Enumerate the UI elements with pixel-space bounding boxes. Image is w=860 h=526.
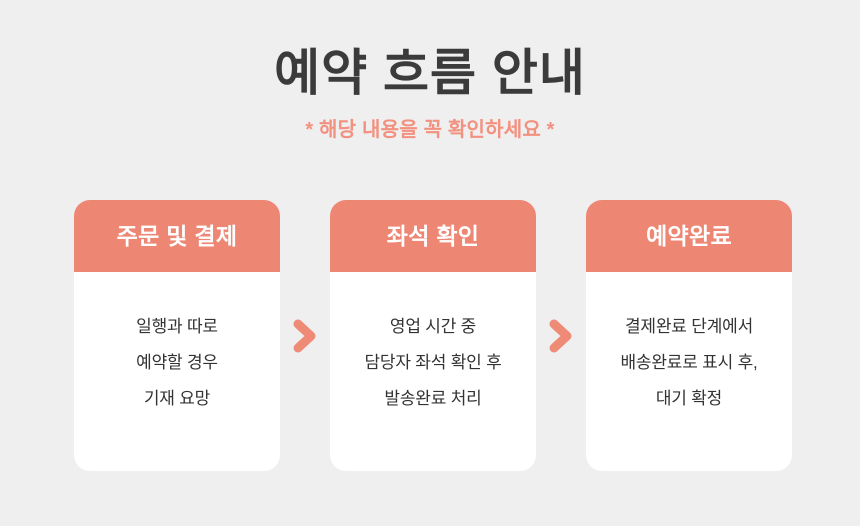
flow-step-body-line: 배송완료로 표시 후, <box>620 345 757 381</box>
flow-step-title-3: 예약완료 <box>646 222 732 250</box>
flow-step-body-line: 대기 확정 <box>656 381 722 417</box>
chevron-right-icon <box>548 319 574 353</box>
page-title: 예약 흐름 안내 <box>0 44 860 102</box>
flow-step-header-2: 좌석 확인 <box>330 200 536 272</box>
flow-step-body-line: 일행과 따로 <box>136 309 218 345</box>
flow-step-body-1: 일행과 따로 예약할 경우 기재 요망 <box>74 272 280 471</box>
infographic-page: 예약 흐름 안내 * 해당 내용을 꼭 확인하세요 * 주문 및 결제 일행과 … <box>0 0 860 526</box>
flow-arrow-1 <box>280 200 330 471</box>
flow-step-card-2: 좌석 확인 영업 시간 중 담당자 좌석 확인 후 발송완료 처리 <box>330 200 536 471</box>
flow-step-body-line: 담당자 좌석 확인 후 <box>364 345 501 381</box>
flow-step-title-1: 주문 및 결제 <box>117 222 238 250</box>
flow-diagram: 주문 및 결제 일행과 따로 예약할 경우 기재 요망 좌석 확인 영업 시간 … <box>74 200 786 471</box>
flow-step-body-line: 기재 요망 <box>144 381 210 417</box>
flow-step-card-1: 주문 및 결제 일행과 따로 예약할 경우 기재 요망 <box>74 200 280 471</box>
page-subtitle: * 해당 내용을 꼭 확인하세요 * <box>0 118 860 142</box>
flow-step-title-2: 좌석 확인 <box>387 222 480 250</box>
flow-step-body-line: 발송완료 처리 <box>384 381 481 417</box>
flow-step-card-3: 예약완료 결제완료 단계에서 배송완료로 표시 후, 대기 확정 <box>586 200 792 471</box>
chevron-right-icon <box>292 319 318 353</box>
flow-arrow-2 <box>536 200 586 471</box>
flow-step-body-line: 영업 시간 중 <box>390 309 476 345</box>
flow-step-header-3: 예약완료 <box>586 200 792 272</box>
header-block: 예약 흐름 안내 * 해당 내용을 꼭 확인하세요 * <box>0 44 860 142</box>
flow-step-body-line: 예약할 경우 <box>136 345 218 381</box>
flow-step-body-3: 결제완료 단계에서 배송완료로 표시 후, 대기 확정 <box>586 272 792 471</box>
flow-step-header-1: 주문 및 결제 <box>74 200 280 272</box>
flow-step-body-2: 영업 시간 중 담당자 좌석 확인 후 발송완료 처리 <box>330 272 536 471</box>
flow-step-body-line: 결제완료 단계에서 <box>625 309 753 345</box>
